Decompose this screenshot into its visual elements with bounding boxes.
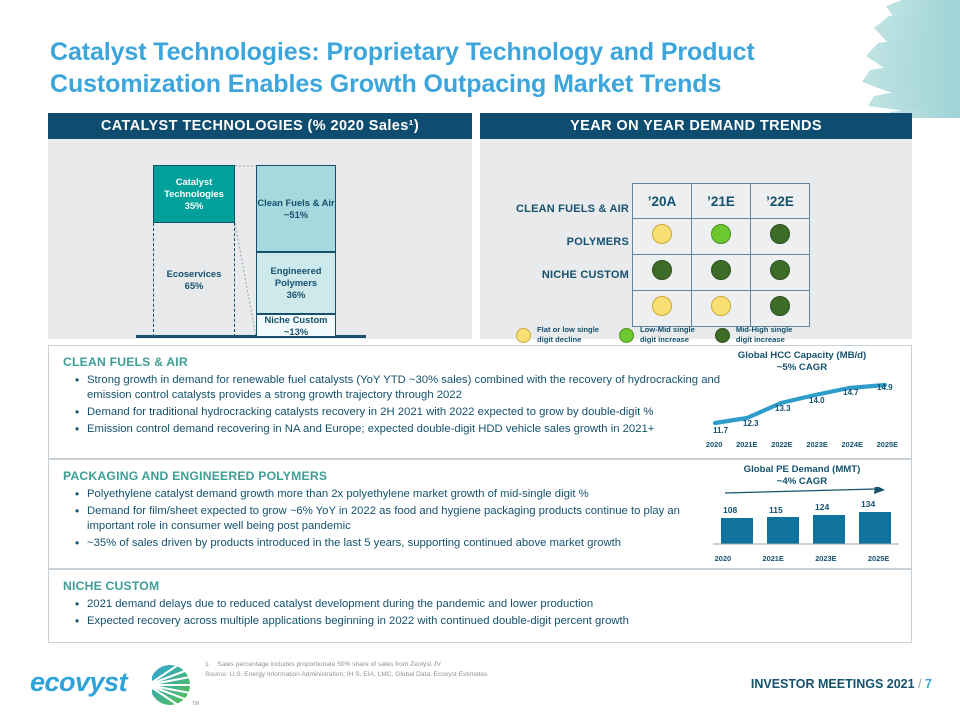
svg-text:13.3: 13.3 <box>775 404 791 413</box>
legend-item-darkgreen: Mid-High single digit increase <box>715 325 793 346</box>
svg-text:108: 108 <box>723 505 737 515</box>
block-ep-label2: Polymers <box>270 277 321 289</box>
cell-polymers-21e <box>692 255 751 291</box>
footnote-number: 1. <box>205 661 211 668</box>
matrix-row-label-polymers: POLYMERS <box>479 236 629 248</box>
cell-polymers-20a <box>633 255 692 291</box>
section-title-niche: NICHE CUSTOM <box>49 570 911 597</box>
legend-dot-green <box>619 328 634 343</box>
pe-chart-subtitle: ~4% CAGR <box>699 476 905 487</box>
demand-matrix-wrap: CLEAN FUELS & AIR POLYMERS NICHE CUSTOM … <box>480 139 912 339</box>
table-row <box>633 219 810 255</box>
list-item: Emission control demand recovering in NA… <box>75 422 725 439</box>
block-eco-value: 65% <box>167 280 222 292</box>
status-dot-yellow <box>652 224 672 244</box>
matrix-legend: Flat or low single digit decline Low-Mid… <box>516 325 896 346</box>
footer-separator: / <box>918 677 921 691</box>
page-title: Catalyst Technologies: Proprietary Techn… <box>50 36 810 100</box>
table-row <box>633 255 810 291</box>
hcc-line-svg: 11.7 12.3 13.3 14.0 14.7 14.9 <box>699 373 905 435</box>
status-dot-yellow <box>711 296 731 316</box>
block-catalyst-technologies: Catalyst Technologies 35% <box>153 165 235 223</box>
legend-item-yellow: Flat or low single digit decline <box>516 325 599 346</box>
block-cf-value: ~51% <box>257 209 334 221</box>
list-item: Polyethylene catalyst demand growth more… <box>75 487 725 504</box>
hcc-chart-title: Global HCC Capacity (MB/d) <box>699 350 905 361</box>
matrix-col-20a: ’20A <box>633 184 692 219</box>
bullet-list-niche: 2021 demand delays due to reduced cataly… <box>49 597 905 631</box>
footnote-text: Sales percentage includes proportionate … <box>212 661 441 668</box>
block-clean-fuels-air: Clean Fuels & Air ~51% <box>256 165 336 252</box>
legend-text-green: Low-Mid single digit increase <box>640 325 695 346</box>
pe-x-axis: 2020 2021E 2023E 2025E <box>699 554 905 563</box>
pe-demand-chart: Global PE Demand (MMT) ~4% CAGR 108 115 … <box>699 464 905 563</box>
svg-text:ecovyst: ecovyst <box>30 667 129 697</box>
block-eco-label: Ecoservices <box>167 268 222 280</box>
block-cf-label: Clean Fuels & Air <box>257 197 334 209</box>
matrix-col-22e: ’22E <box>751 184 810 219</box>
section-clean-fuels-air: CLEAN FUELS & AIR Strong growth in deman… <box>48 345 912 459</box>
bullet-list-clean-fuels: Strong growth in demand for renewable fu… <box>49 373 725 439</box>
cell-polymers-22e <box>751 255 810 291</box>
table-row <box>633 291 810 327</box>
pe-bar-svg: 108 115 124 134 <box>699 487 905 549</box>
hcc-capacity-chart: Global HCC Capacity (MB/d) ~5% CAGR 11.7… <box>699 350 905 449</box>
status-dot-green <box>711 224 731 244</box>
block-nc-value: ~13% <box>264 326 327 338</box>
panel-right-header: YEAR ON YEAR DEMAND TRENDS <box>480 113 912 139</box>
block-ep-label1: Engineered <box>270 265 321 277</box>
page-number: 7 <box>925 677 932 691</box>
svg-text:14.0: 14.0 <box>809 396 825 405</box>
slide-root: Catalyst Technologies: Proprietary Techn… <box>0 0 960 720</box>
svg-text:12.3: 12.3 <box>743 419 759 428</box>
status-dot-darkgreen <box>711 260 731 280</box>
svg-text:14.7: 14.7 <box>843 388 859 397</box>
svg-text:134: 134 <box>861 499 875 509</box>
footer-right: INVESTOR MEETINGS 2021 / 7 <box>751 677 932 691</box>
section-niche-custom: NICHE CUSTOM 2021 demand delays due to r… <box>48 569 912 643</box>
sales-breakdown-chart: Catalyst Technologies 35% Ecoservices 65… <box>48 139 472 339</box>
block-ecoservices: Ecoservices 65% <box>153 223 235 337</box>
block-engineered-polymers: Engineered Polymers 36% <box>256 252 336 314</box>
legend-item-green: Low-Mid single digit increase <box>619 325 695 346</box>
svg-text:14.9: 14.9 <box>877 383 893 392</box>
matrix-row-label-niche-custom: NICHE CUSTOM <box>479 269 629 281</box>
legend-text-yellow: Flat or low single digit decline <box>537 325 599 346</box>
demand-trends-panel: YEAR ON YEAR DEMAND TRENDS CLEAN FUELS &… <box>480 113 912 339</box>
block-nc-label: Niche Custom <box>264 314 327 326</box>
panel-left-header: CATALYST TECHNOLOGIES (% 2020 Sales¹) <box>48 113 472 139</box>
legend-text-darkgreen: Mid-High single digit increase <box>736 325 793 346</box>
svg-text:124: 124 <box>815 502 829 512</box>
hcc-chart-subtitle: ~5% CAGR <box>699 362 905 373</box>
hcc-x-axis: 2020 2021E 2022E 2023E 2024E 2025E <box>699 440 905 449</box>
cell-clean-fuels-20a <box>633 219 692 255</box>
catalyst-technologies-panel: CATALYST TECHNOLOGIES (% 2020 Sales¹) Ca… <box>48 113 472 339</box>
svg-text:115: 115 <box>769 505 783 515</box>
cell-clean-fuels-21e <box>692 219 751 255</box>
pe-chart-title: Global PE Demand (MMT) <box>699 464 905 475</box>
decorative-fan-icon <box>790 0 960 118</box>
list-item: Demand for film/sheet expected to grow ~… <box>75 504 725 536</box>
cell-niche-20a <box>633 291 692 327</box>
source-text: Source: U.S. Energy Information Administ… <box>205 670 685 680</box>
bullet-list-polymers: Polyethylene catalyst demand growth more… <box>49 487 725 553</box>
list-item: ~35% of sales driven by products introdu… <box>75 536 725 553</box>
list-item: Strong growth in demand for renewable fu… <box>75 373 725 405</box>
list-item: Demand for traditional hydrocracking cat… <box>75 405 725 422</box>
matrix-row-label-clean-fuels: CLEAN FUELS & AIR <box>479 203 629 215</box>
footer-meeting-label: INVESTOR MEETINGS 2021 <box>751 677 915 691</box>
demand-matrix-table: ’20A ’21E ’22E <box>632 183 810 327</box>
status-dot-darkgreen <box>770 260 790 280</box>
list-item: 2021 demand delays due to reduced cataly… <box>75 597 905 614</box>
cell-niche-21e <box>692 291 751 327</box>
cell-clean-fuels-22e <box>751 219 810 255</box>
legend-dot-yellow <box>516 328 531 343</box>
block-ep-value: 36% <box>270 289 321 301</box>
section-packaging-polymers: PACKAGING AND ENGINEERED POLYMERS Polyet… <box>48 459 912 569</box>
block-niche-custom: Niche Custom ~13% <box>256 314 336 337</box>
svg-text:11.7: 11.7 <box>713 426 729 435</box>
block-ct-value: 35% <box>154 200 234 212</box>
matrix-header-row: ’20A ’21E ’22E <box>633 184 810 219</box>
cell-niche-22e <box>751 291 810 327</box>
svg-text:TM: TM <box>192 701 199 707</box>
status-dot-yellow <box>652 296 672 316</box>
list-item: Expected recovery across multiple applic… <box>75 614 905 631</box>
footnote-block: 1. Sales percentage includes proportiona… <box>205 660 685 680</box>
status-dot-darkgreen <box>770 296 790 316</box>
block-ct-label: Catalyst Technologies <box>154 176 234 200</box>
ecovyst-logo: ecovyst TM <box>30 663 205 709</box>
status-dot-darkgreen <box>770 224 790 244</box>
legend-dot-darkgreen <box>715 328 730 343</box>
matrix-col-21e: ’21E <box>692 184 751 219</box>
status-dot-darkgreen <box>652 260 672 280</box>
footnote-line: 1. Sales percentage includes proportiona… <box>205 660 685 670</box>
